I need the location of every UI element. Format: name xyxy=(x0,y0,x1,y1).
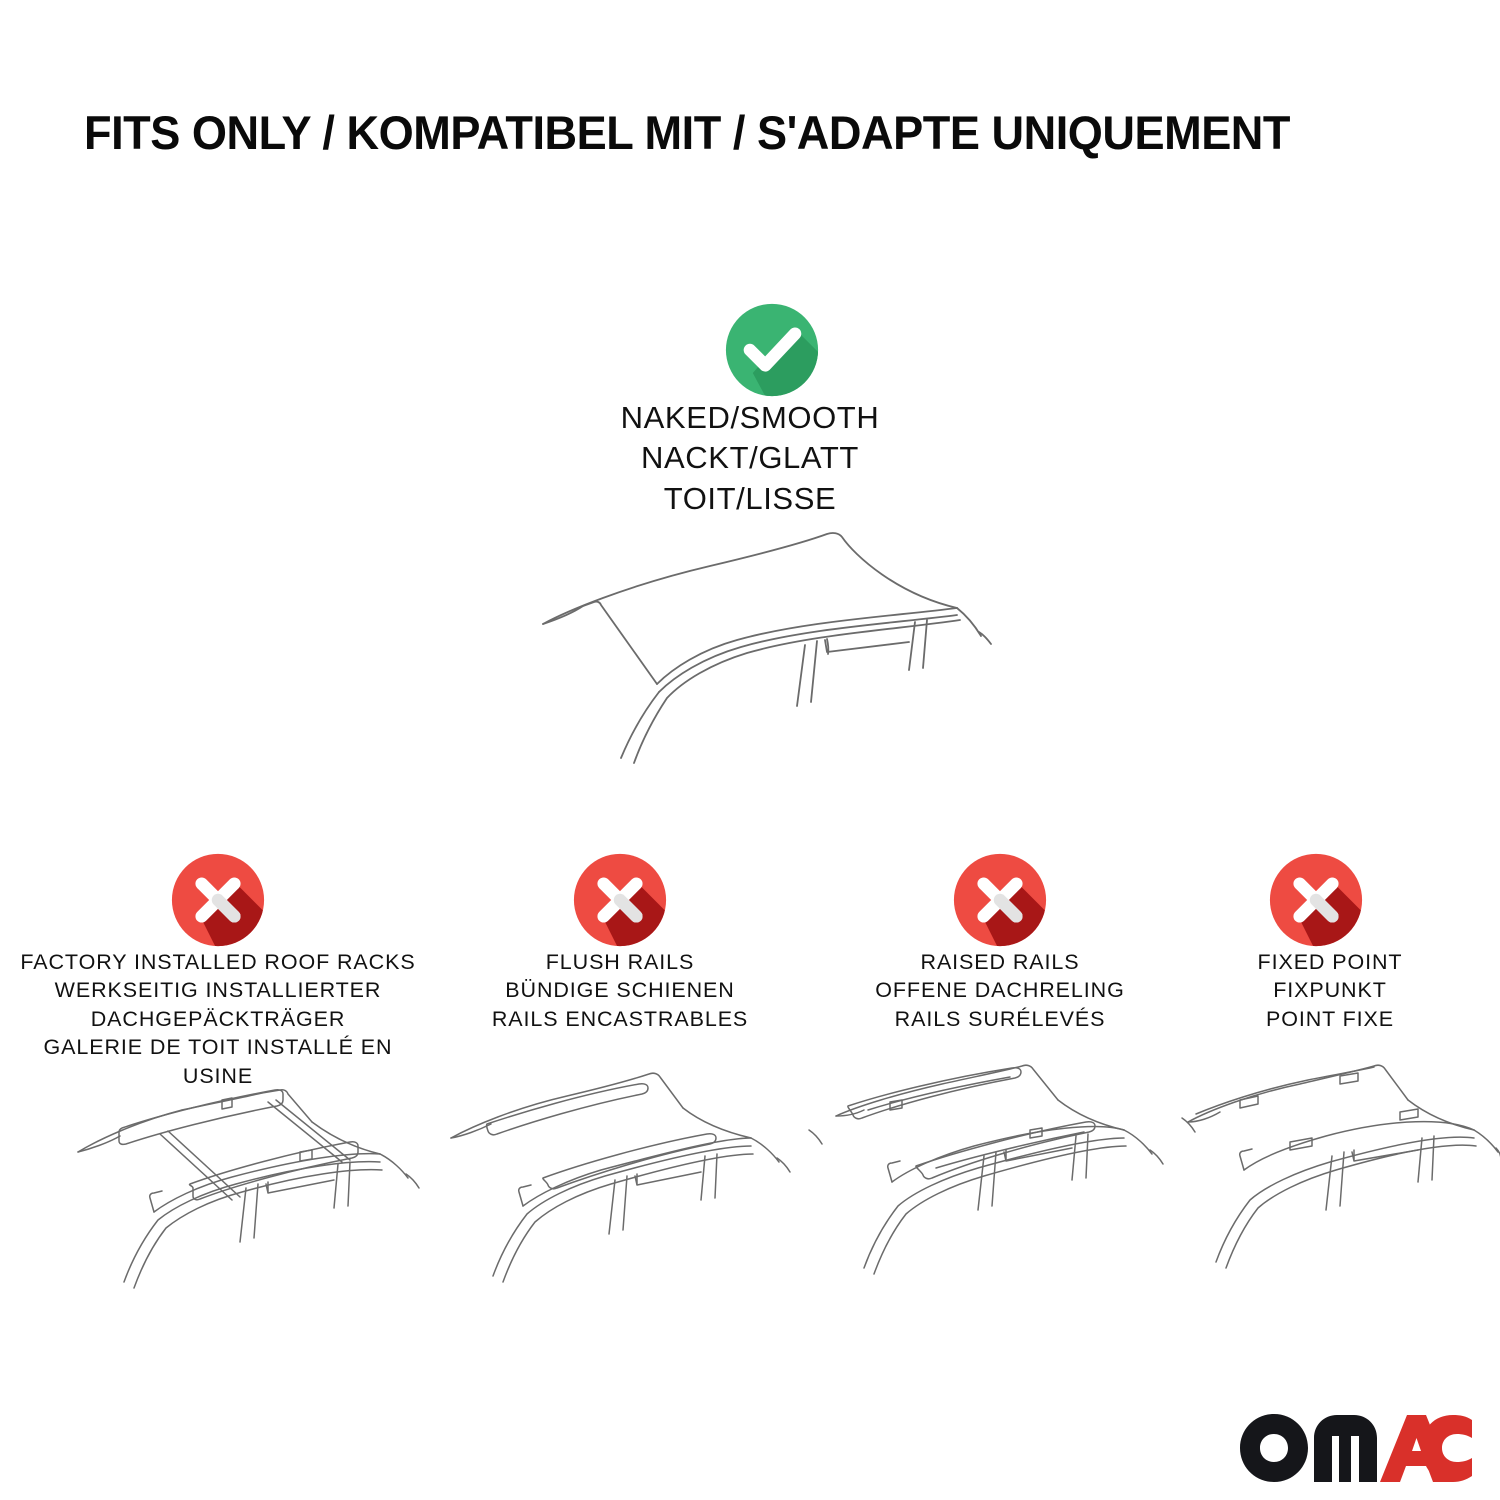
compatible-label: NAKED/SMOOTH NACKT/GLATT TOIT/LISSE xyxy=(550,398,950,519)
green-check-circle-icon xyxy=(724,302,820,398)
red-cross-circle-icon xyxy=(170,852,266,948)
red-cross-circle-icon xyxy=(952,852,1048,948)
compatible-label-line1: NAKED/SMOOTH xyxy=(550,398,950,438)
omac-logo xyxy=(1238,1412,1474,1484)
label-line2: WERKSEITIG INSTALLIERTER xyxy=(18,976,418,1004)
red-cross-circle-icon xyxy=(1268,852,1364,948)
label-line3: RAILS ENCASTRABLES xyxy=(440,1005,800,1033)
red-cross-circle-icon xyxy=(572,852,668,948)
label-line1: FACTORY INSTALLED ROOF RACKS xyxy=(18,948,418,976)
label-line3: RAILS SURÉLEVÉS xyxy=(828,1005,1172,1033)
incompatible-label-flush-rails: FLUSH RAILS BÜNDIGE SCHIENEN RAILS ENCAS… xyxy=(440,948,800,1033)
label-line1: FIXED POINT xyxy=(1180,948,1480,976)
page-title: FITS ONLY / KOMPATIBEL MIT / S'ADAPTE UN… xyxy=(84,107,1290,159)
fixed-point-illustration xyxy=(1182,1060,1500,1295)
label-line2: BÜNDIGE SCHIENEN xyxy=(440,976,800,1004)
omac-logo-letter-o xyxy=(1240,1414,1308,1482)
incompatible-label-fixed-point: FIXED POINT FIXPUNKT POINT FIXE xyxy=(1180,948,1480,1033)
raised-rails-illustration xyxy=(830,1060,1210,1295)
label-line3: DACHGEPÄCKTRÄGER xyxy=(18,1005,418,1033)
omac-logo-letter-m xyxy=(1314,1415,1377,1482)
factory-roof-rack-illustration xyxy=(50,1060,440,1295)
compatible-label-line3: TOIT/LISSE xyxy=(550,479,950,519)
label-line2: OFFENE DACHRELING xyxy=(828,976,1172,1004)
compatible-label-line2: NACKT/GLATT xyxy=(550,438,950,478)
flush-rails-illustration xyxy=(443,1060,823,1295)
incompatible-label-raised-rails: RAISED RAILS OFFENE DACHRELING RAILS SUR… xyxy=(828,948,1172,1033)
label-line1: RAISED RAILS xyxy=(828,948,1172,976)
naked-smooth-roof-illustration xyxy=(500,520,1010,800)
label-line2: FIXPUNKT xyxy=(1180,976,1480,1004)
label-line1: FLUSH RAILS xyxy=(440,948,800,976)
label-line3: POINT FIXE xyxy=(1180,1005,1480,1033)
